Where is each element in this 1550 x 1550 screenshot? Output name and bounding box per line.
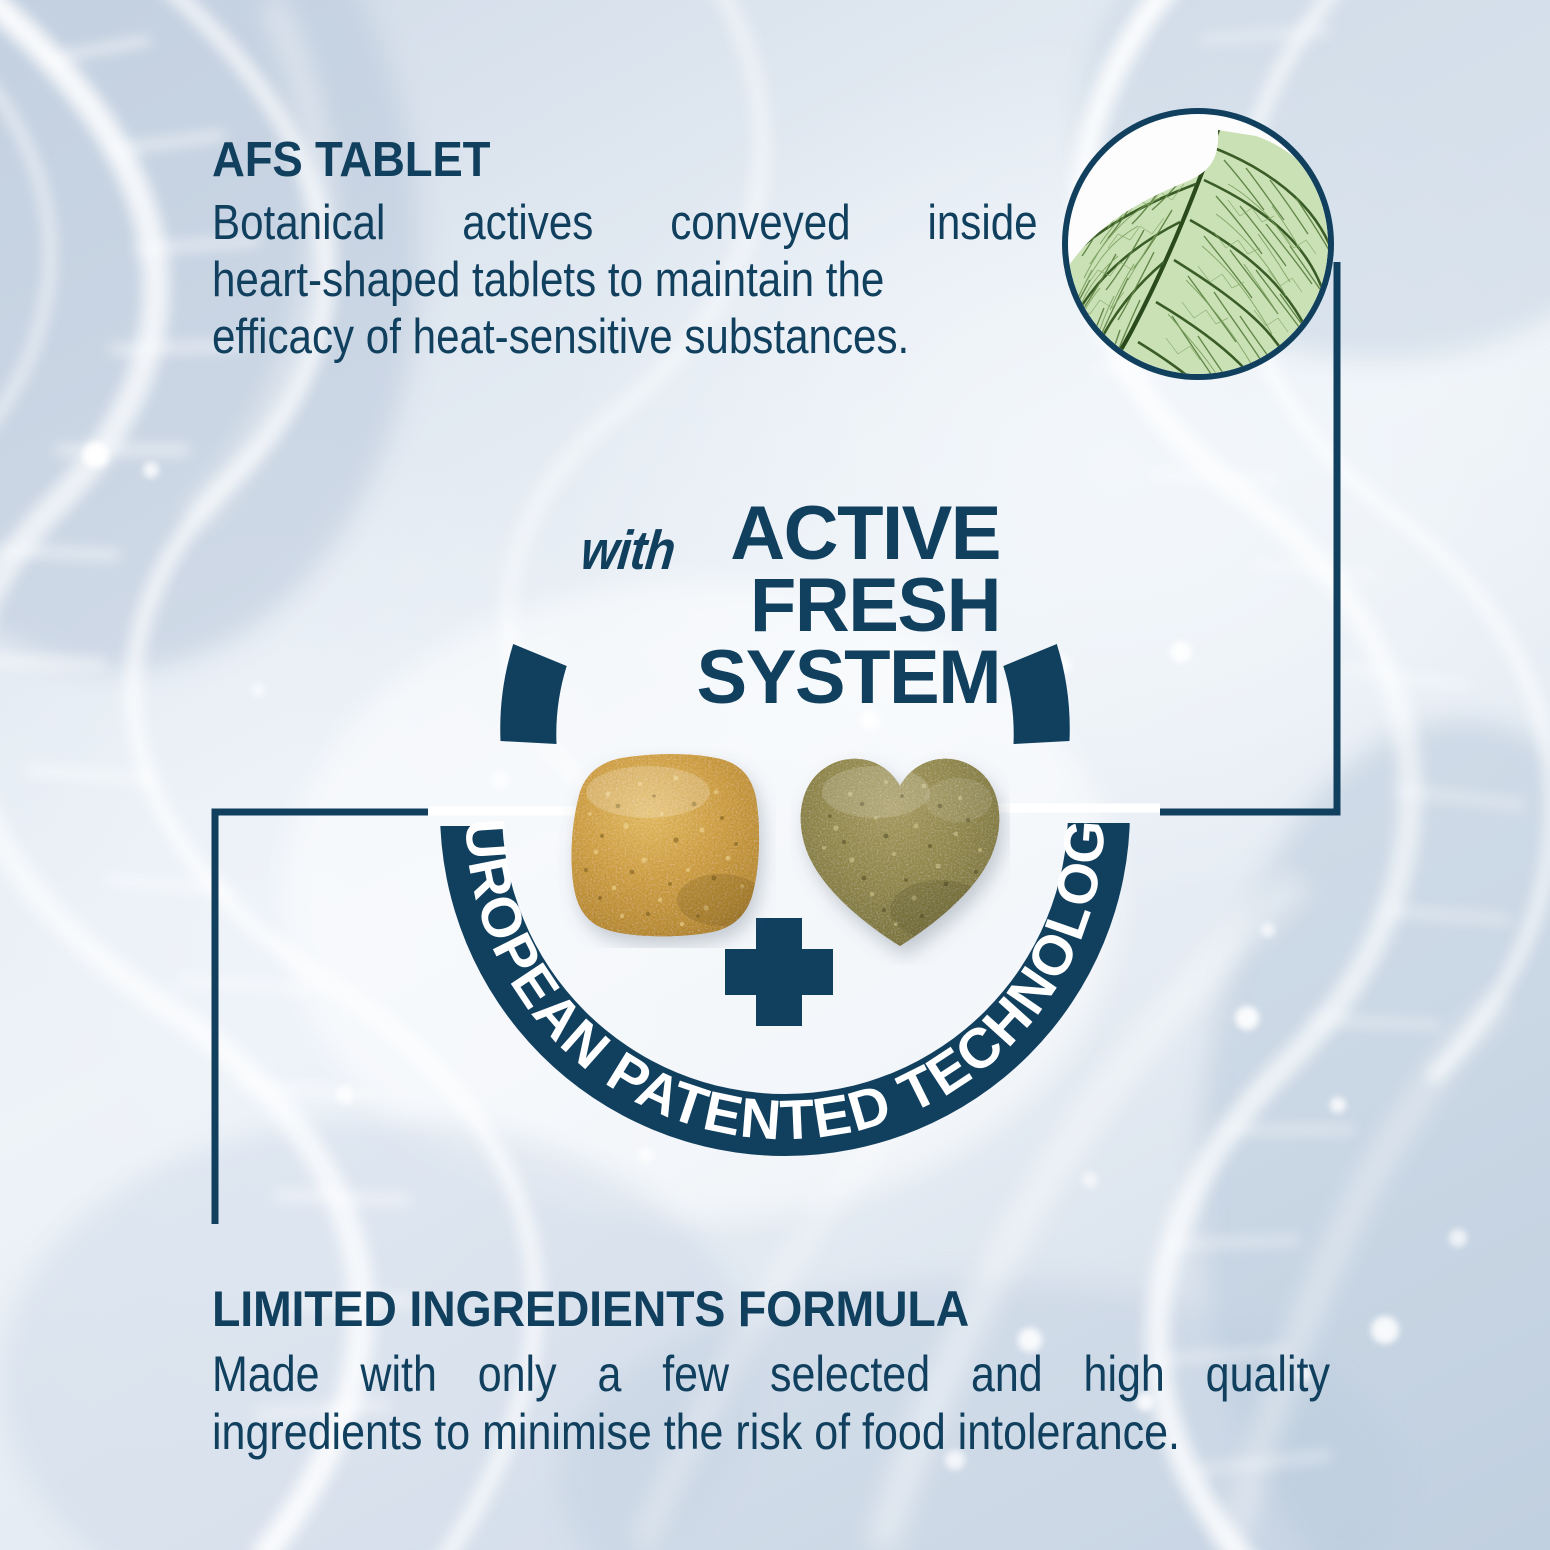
body-word: selected (770, 1345, 930, 1403)
body-word: inside (927, 195, 1037, 252)
body-word: few (662, 1345, 729, 1403)
body-word: conveyed (670, 195, 850, 252)
body-line: ingredients to minimise the risk of food… (212, 1403, 1330, 1461)
limited-ingredients-feature: LIMITED INGREDIENTS FORMULA Made with on… (212, 1280, 1512, 1461)
square-kibble (556, 748, 776, 948)
afs-tablet-body: Botanical actives conveyed inside heart-… (212, 195, 1038, 365)
leaf-body (1068, 130, 1328, 374)
body-word: Made (212, 1345, 320, 1403)
afs-tablet-feature: AFS TABLET Botanical actives conveyed in… (212, 132, 1112, 365)
body-line: Botanical actives conveyed inside (212, 195, 1038, 252)
heart-shaped-tablet (790, 740, 1010, 965)
body-word: a (597, 1345, 621, 1403)
body-word: actives (462, 195, 593, 252)
body-line: Made with only a few selected and high q… (212, 1345, 1330, 1403)
body-word: Botanical (212, 195, 385, 252)
limited-ingredients-heading: LIMITED INGREDIENTS FORMULA (212, 1280, 1421, 1338)
body-word: with (360, 1345, 436, 1403)
leaf-icon (1068, 114, 1328, 374)
body-line: heart-shaped tablets to maintain the (212, 252, 1038, 309)
body-word: and (971, 1345, 1043, 1403)
body-word: quality (1206, 1345, 1330, 1403)
leaf-badge (1062, 108, 1334, 380)
infographic-canvas: AFS TABLET Botanical actives conveyed in… (0, 0, 1550, 1550)
body-word: only (478, 1345, 557, 1403)
afs-tablet-heading: AFS TABLET (212, 132, 1049, 188)
body-line: efficacy of heat-sensitive substances. (212, 309, 1038, 366)
body-word: high (1084, 1345, 1165, 1403)
limited-ingredients-body: Made with only a few selected and high q… (212, 1345, 1330, 1461)
